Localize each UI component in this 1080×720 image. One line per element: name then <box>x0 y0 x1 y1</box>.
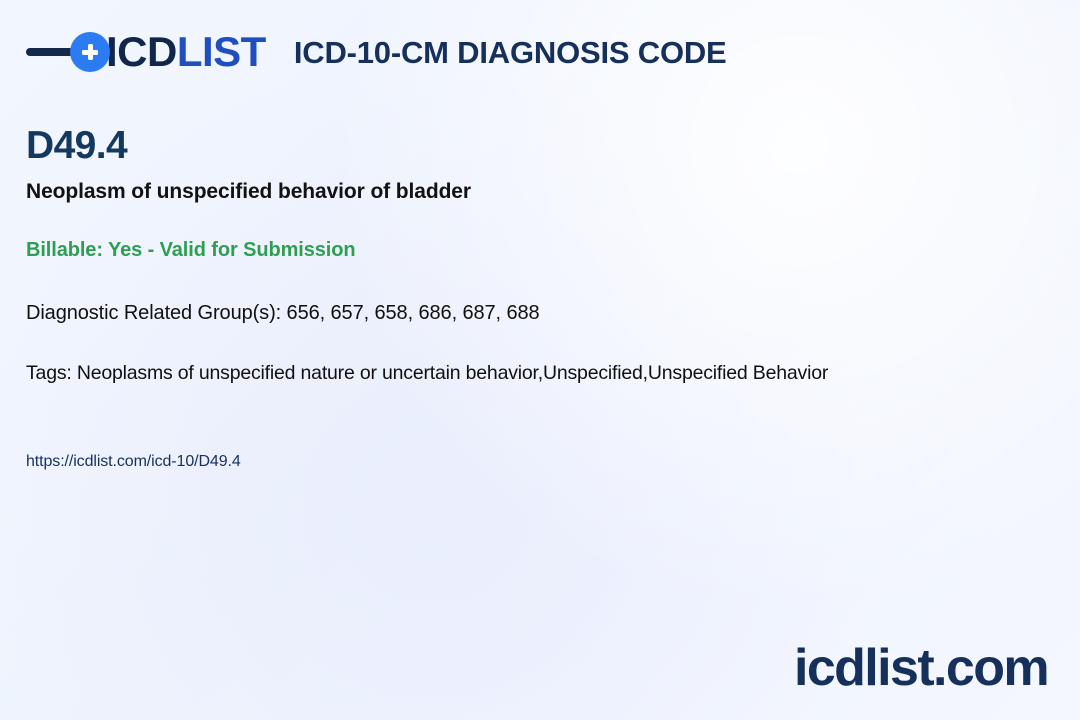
icdlist-logo[interactable]: ICDLIST <box>26 31 266 73</box>
logo-text-list: LIST <box>177 28 266 75</box>
source-url[interactable]: https://icdlist.com/icd-10/D49.4 <box>26 453 1056 471</box>
plus-icon <box>81 43 99 61</box>
billable-status: Billable: Yes - Valid for Submission <box>26 239 1056 262</box>
logo-text-icd: ICD <box>106 28 177 75</box>
page-root: ICDLIST ICD-10-CM DIAGNOSIS CODE D49.4 N… <box>0 0 1080 720</box>
logo-wordmark: ICDLIST <box>106 31 266 73</box>
plus-circle-icon <box>70 32 110 72</box>
page-header: ICDLIST ICD-10-CM DIAGNOSIS CODE <box>24 24 1056 80</box>
page-title: ICD-10-CM DIAGNOSIS CODE <box>294 37 727 68</box>
footer-brand: icdlist.com <box>794 642 1048 694</box>
diagnosis-code: D49.4 <box>26 126 1056 167</box>
tags-list: Tags: Neoplasms of unspecified nature or… <box>26 362 1056 385</box>
dash-icon <box>26 48 74 56</box>
main-content: D49.4 Neoplasm of unspecified behavior o… <box>24 80 1056 471</box>
diagnostic-related-groups: Diagnostic Related Group(s): 656, 657, 6… <box>26 302 1056 325</box>
diagnosis-description: Neoplasm of unspecified behavior of blad… <box>26 180 1056 204</box>
